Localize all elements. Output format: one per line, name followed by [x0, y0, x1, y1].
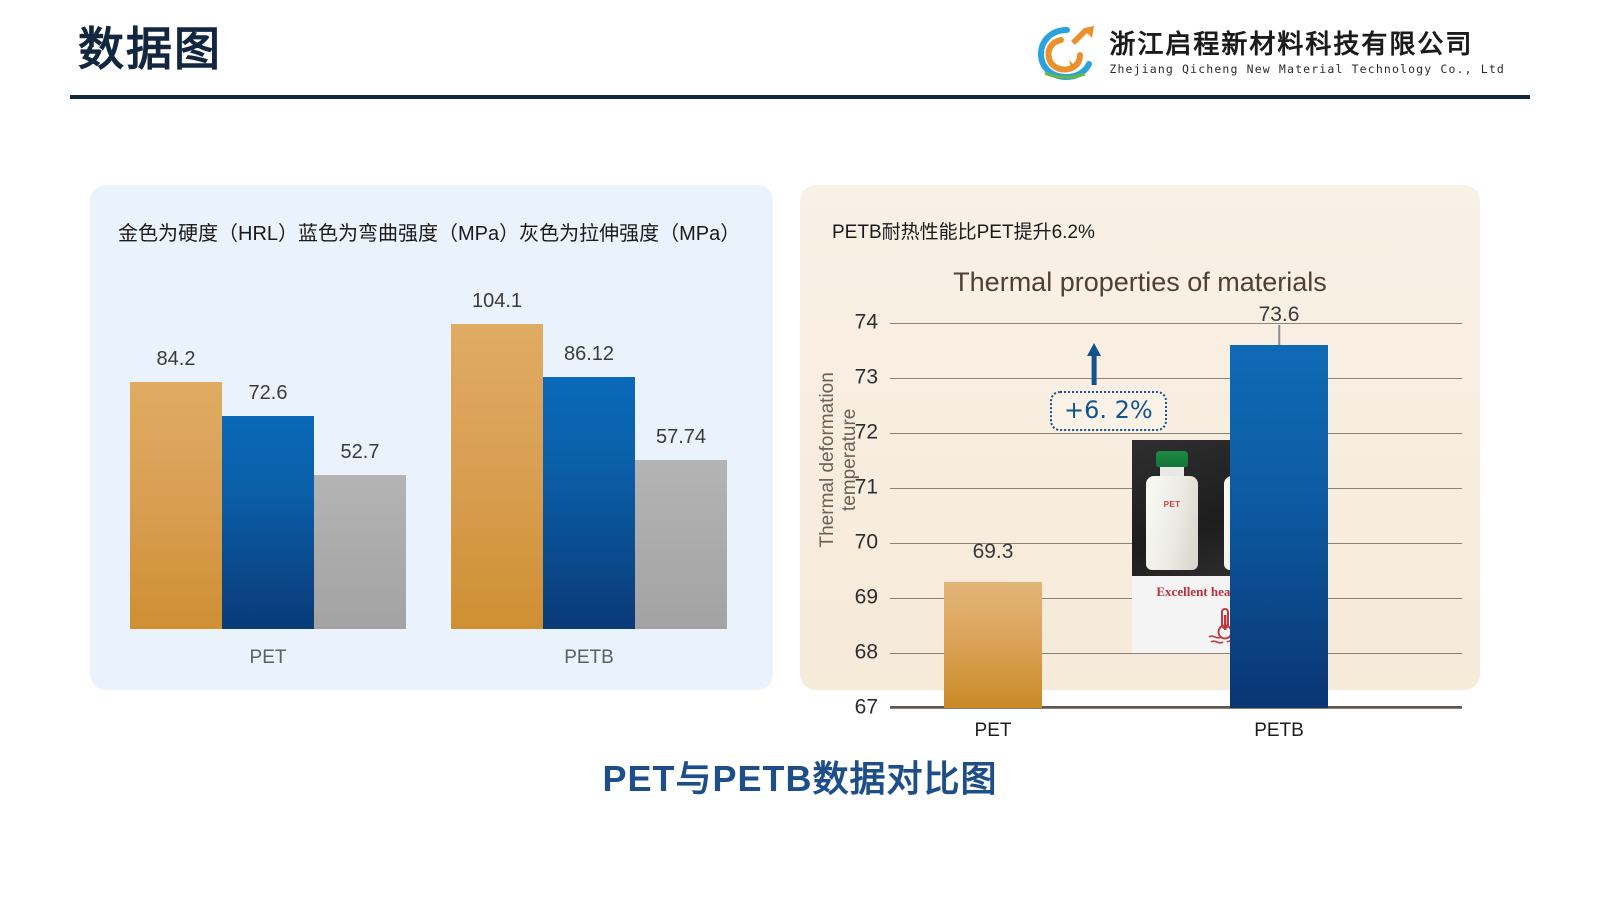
y-tick-label: 70 [855, 531, 878, 555]
bar-stem [1278, 325, 1280, 345]
qicheng-q-arrow-logo-icon [1037, 24, 1099, 82]
slide-page: 数据图 浙江启程新材料科技有限公司 Zhejiang Qicheng New M… [0, 0, 1600, 899]
logo-text-block: 浙江启程新材料科技有限公司 Zhejiang Qicheng New Mater… [1109, 30, 1505, 77]
bar-value-label: 72.6 [249, 382, 288, 405]
bar-pet-tensile: 52.7 [314, 475, 406, 629]
page-title: 数据图 [78, 22, 222, 77]
bottle-cap [1156, 451, 1188, 467]
bar-pet-flexural: 72.6 [222, 416, 314, 629]
gridline: 74 [890, 323, 1462, 324]
header-divider [70, 95, 1530, 99]
bar-petb-tensile: 57.74 [635, 460, 727, 629]
thermal-properties-panel: PETB耐热性能比PET提升6.2% Thermal properties of… [800, 185, 1480, 690]
company-name-en: Zhejiang Qicheng New Material Technology… [1109, 62, 1505, 76]
bar-value-label: 84.2 [157, 348, 196, 371]
bar-pet-thermal: 69.3 PET [944, 582, 1042, 709]
x-axis-label-pet: PET [130, 647, 406, 669]
y-tick-label: 71 [855, 476, 878, 500]
bar-fill-gray [314, 475, 406, 629]
gridline: 72 [890, 433, 1462, 434]
bottle-label-pet: PET [1146, 500, 1198, 509]
mechanical-bar-chart: 84.2 72.6 52.7 PET 104.1 [90, 265, 773, 685]
bar-fill-blue [1230, 345, 1328, 708]
bottle-neck [1160, 467, 1184, 476]
x-axis-label-petb: PETB [451, 647, 727, 669]
bar-value-label: 104.1 [472, 290, 522, 313]
bar-fill-gold [130, 382, 222, 629]
improvement-badge: +6. 2% [1050, 391, 1167, 431]
bar-petb-thermal: 73.6 PETB [1230, 345, 1328, 708]
y-tick-label: 73 [855, 366, 878, 390]
bottle-body: PET [1146, 476, 1198, 570]
chart-title: Thermal properties of materials [800, 267, 1480, 298]
bar-fill-gold [451, 324, 543, 629]
y-axis-title-line1: Thermal deformation [817, 372, 838, 547]
thermal-bar-chart: Thermal properties of materials Thermal … [800, 245, 1480, 690]
bar-fill-blue [543, 377, 635, 629]
bar-petb-hardness: 104.1 [451, 324, 543, 629]
right-panel-caption: PETB耐热性能比PET提升6.2% [832, 217, 1095, 244]
mechanical-properties-panel: 金色为硬度（HRL）蓝色为弯曲强度（MPa）灰色为拉伸强度（MPa） 84.2 … [90, 185, 773, 690]
bar-value-label: 73.6 [1259, 303, 1300, 327]
bottle-pet: PET [1146, 451, 1198, 570]
company-name-cn: 浙江启程新材料科技有限公司 [1109, 30, 1505, 60]
y-tick-label: 67 [855, 696, 878, 720]
bar-value-label: 69.3 [973, 540, 1014, 564]
bar-value-label: 52.7 [341, 441, 380, 464]
x-axis-label-pet: PET [975, 720, 1012, 742]
bar-group-pet: 84.2 72.6 52.7 PET [130, 299, 406, 629]
gridline: 73 [890, 378, 1462, 379]
up-arrow-icon [1086, 343, 1102, 387]
y-axis-title: Thermal deformation temperature [817, 372, 861, 547]
x-axis-label-petb: PETB [1254, 720, 1304, 742]
slide-bottom-caption: PET与PETB数据对比图 [0, 750, 1600, 802]
bar-value-label: 57.74 [656, 426, 706, 449]
plot-area: 74 73 72 71 70 69 68 [890, 323, 1462, 708]
bar-petb-flexural: 86.12 [543, 377, 635, 629]
y-tick-label: 74 [855, 311, 878, 335]
bar-pet-hardness: 84.2 [130, 382, 222, 629]
y-tick-label: 72 [855, 421, 878, 445]
gridline: 67 [890, 708, 1462, 709]
bar-fill-gold [944, 582, 1042, 709]
bar-group-petb: 104.1 86.12 57.74 PETB [451, 299, 727, 629]
y-tick-label: 69 [855, 586, 878, 610]
left-panel-caption: 金色为硬度（HRL）蓝色为弯曲强度（MPa）灰色为拉伸强度（MPa） [118, 217, 740, 246]
bar-fill-blue [222, 416, 314, 629]
bar-value-label: 86.12 [564, 343, 614, 366]
y-tick-label: 68 [855, 641, 878, 665]
bar-fill-gray [635, 460, 727, 629]
company-logo: 浙江启程新材料科技有限公司 Zhejiang Qicheng New Mater… [1037, 24, 1505, 82]
slide-header: 数据图 浙江启程新材料科技有限公司 Zhejiang Qicheng New M… [0, 0, 1600, 110]
